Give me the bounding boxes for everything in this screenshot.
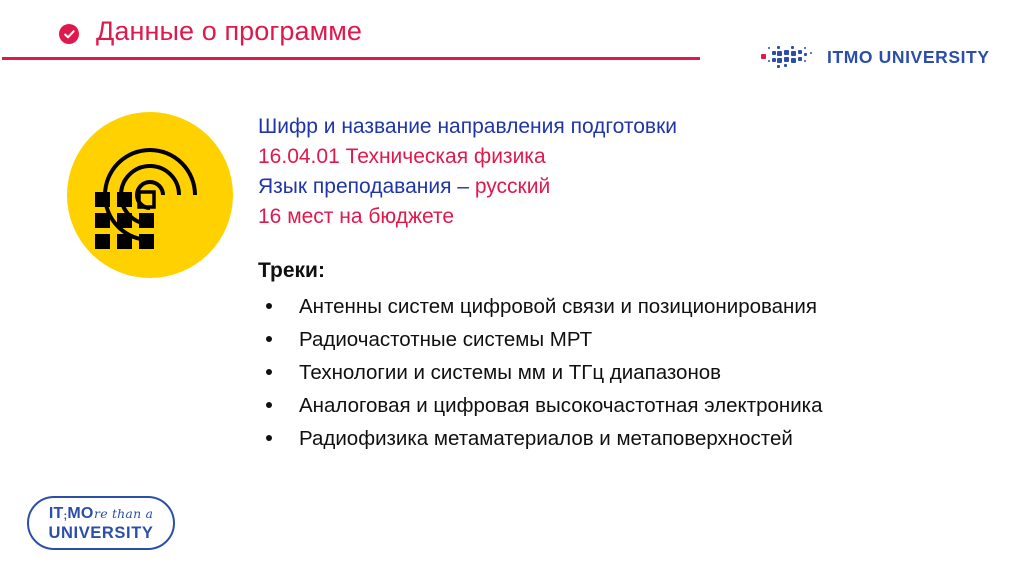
antenna-signal-icon	[67, 112, 233, 278]
list-item: Технологии и системы мм и ТГц диапазонов	[258, 356, 998, 389]
bullet-icon	[266, 336, 272, 342]
program-code-and-name: 16.04.01 Техническая физика	[258, 142, 998, 172]
bullet-icon	[266, 402, 272, 408]
list-item: Радиочастотные системы МРТ	[258, 323, 998, 356]
check-circle-icon	[59, 24, 79, 44]
main-content: Шифр и название направления подготовки 1…	[258, 112, 998, 455]
program-direction-label: Шифр и название направления подготовки	[258, 112, 998, 142]
program-info-block: Шифр и название направления подготовки 1…	[258, 112, 998, 232]
track-label: Технологии и системы мм и ТГц диапазонов	[299, 361, 721, 384]
teaching-language-line: Язык преподавания – русский	[258, 172, 998, 202]
budget-places-line: 16 мест на бюджете	[258, 202, 998, 232]
footer-badge-script: re than a	[94, 505, 153, 522]
bullet-icon	[266, 303, 272, 309]
track-label: Радиочастотные системы МРТ	[299, 328, 592, 351]
track-label: Радиофизика метаматериалов и метаповерхн…	[299, 427, 793, 450]
footer-badge-mo: MO	[67, 505, 93, 522]
list-item: Аналоговая и цифровая высокочастотная эл…	[258, 389, 998, 422]
header-divider	[2, 57, 700, 60]
tracks-list: Антенны систем цифровой связи и позицион…	[258, 290, 998, 455]
footer-badge-line1: IT;MOre than a	[49, 505, 153, 524]
footer-badge-semicolon: ;	[63, 508, 67, 525]
footer-badge-it: IT	[49, 505, 64, 522]
tracks-section: Треки: Антенны систем цифровой связи и п…	[258, 256, 998, 455]
itmore-than-a-university-badge: IT;MOre than a UNIVERSITY	[27, 496, 175, 550]
tracks-heading: Треки:	[258, 256, 998, 286]
bullet-icon	[266, 369, 272, 375]
list-item: Радиофизика метаматериалов и метаповерхн…	[258, 422, 998, 455]
list-item: Антенны систем цифровой связи и позицион…	[258, 290, 998, 323]
bullet-icon	[266, 435, 272, 441]
track-label: Аналоговая и цифровая высокочастотная эл…	[299, 394, 823, 417]
footer-badge-university: UNIVERSITY	[48, 524, 153, 542]
itmo-logo-text: ITMO UNIVERSITY	[827, 47, 990, 68]
track-label: Антенны систем цифровой связи и позицион…	[299, 295, 817, 318]
itmo-university-logo: ITMO UNIVERSITY	[741, 33, 1009, 82]
page-title: Данные о программе	[96, 14, 362, 48]
itmo-dot-matrix-icon	[761, 45, 817, 71]
teaching-language-value: русский	[475, 175, 550, 198]
slide-root: Данные о программе ITMO	[0, 0, 1024, 574]
teaching-language-label: Язык преподавания –	[258, 175, 475, 198]
